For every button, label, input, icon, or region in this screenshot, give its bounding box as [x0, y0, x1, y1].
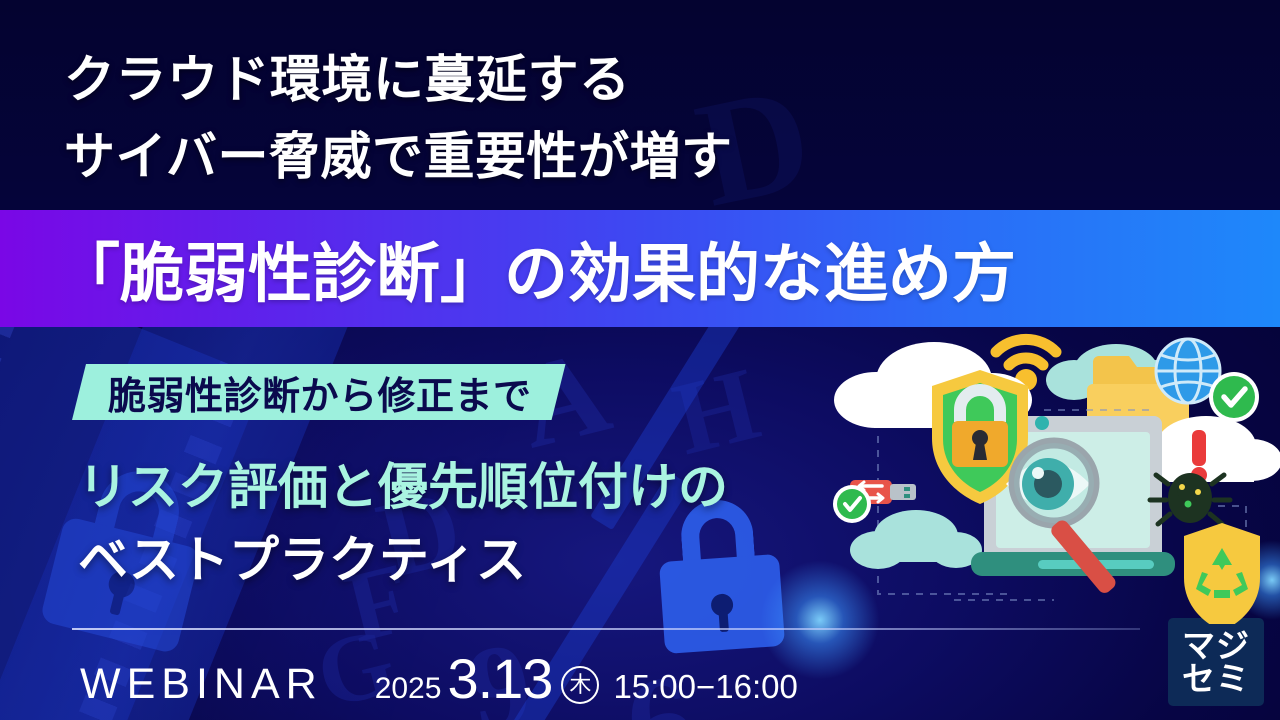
security-illustration — [816, 318, 1280, 624]
title-band: 「脆弱性診断」の効果的な進め方 — [0, 210, 1280, 327]
cloud-icon-pale-left — [850, 510, 982, 569]
check-circle-icon-usb — [833, 485, 871, 523]
check-circle-icon-top — [1209, 372, 1259, 422]
subtitle-tag: 脆弱性診断から修正まで — [72, 364, 566, 420]
logo-line-2: セミ — [1182, 662, 1250, 695]
subtitle-tag-label: 脆弱性診断から修正まで — [108, 365, 532, 420]
shield-recycle-icon — [1184, 523, 1260, 624]
headline-block: D クラウド環境に蔓延する サイバー脅威で重要性が増す — [0, 0, 1280, 210]
headline-line-2: サイバー脅威で重要性が増す — [64, 115, 732, 189]
webinar-label: WEBINAR — [80, 660, 323, 709]
divider — [72, 628, 1140, 630]
logo-line-1: マジ — [1182, 629, 1250, 662]
event-date: 3.13 — [447, 646, 552, 711]
subtitle-line-2: ベストプラクティス — [78, 520, 526, 592]
webinar-banner: D B A D F G H 9 6 D クラウド環境に蔓延する サイバー脅威で重… — [0, 0, 1280, 720]
event-info-row: WEBINAR 2025 3.13 木 15:00−16:00 — [80, 646, 798, 704]
headline-line-1: クラウド環境に蔓延する — [64, 38, 631, 112]
page-title: 「脆弱性診断」の効果的な進め方 — [56, 223, 1016, 315]
majisemi-logo[interactable]: マジ セミ — [1168, 618, 1264, 706]
event-year: 2025 — [375, 672, 442, 706]
event-time: 15:00−16:00 — [613, 668, 797, 706]
event-day-of-week: 木 — [561, 666, 599, 704]
subtitle-line-1: リスク評価と優先順位付けの — [78, 447, 728, 519]
